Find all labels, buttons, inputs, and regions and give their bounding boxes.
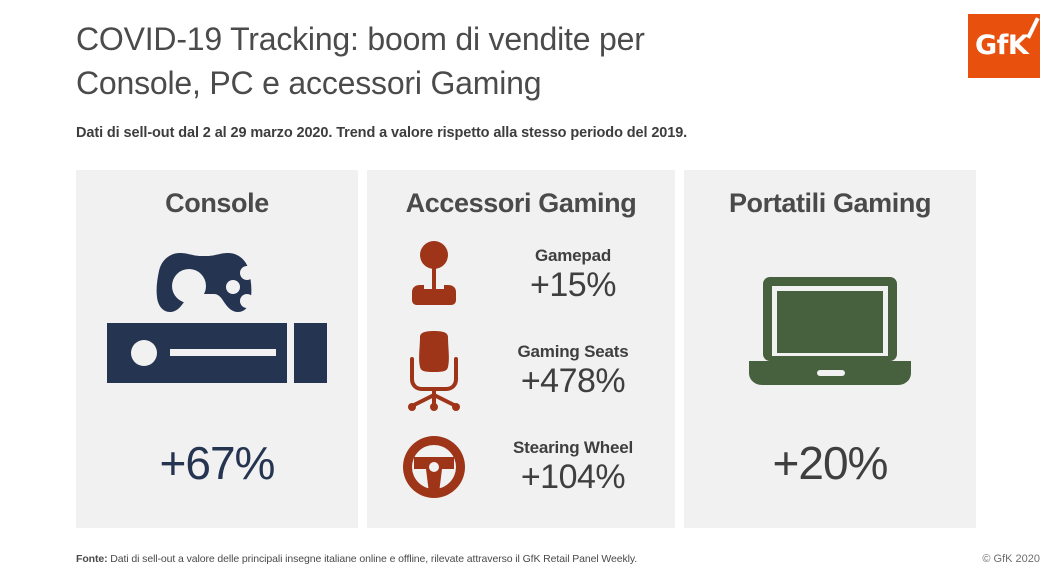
accessori-row-gaming-seats: Gaming Seats +478% <box>367 323 675 419</box>
page-title-line1: COVID-19 Tracking: boom di vendite per <box>76 21 645 57</box>
panel-accessori-title: Accessori Gaming <box>406 188 637 219</box>
panel-accessori-gaming: Accessori Gaming Gamepad +15% <box>367 170 675 528</box>
header: COVID-19 Tracking: boom di vendite per C… <box>76 18 936 141</box>
gfk-logo: GfK <box>968 14 1040 78</box>
gfk-logo-slash-icon <box>1026 17 1039 39</box>
steering-wheel-icon <box>391 433 477 501</box>
gamepad-console-icon-svg <box>102 241 332 391</box>
panels-container: Console +67% <box>76 170 976 528</box>
accessori-label-gamepad: Gamepad <box>535 246 611 266</box>
panel-console: Console +67% <box>76 170 358 528</box>
panel-console-title: Console <box>165 188 269 219</box>
footer-copyright: © GfK 2020 <box>982 553 1040 565</box>
panel-portatili-value: +20% <box>684 436 976 490</box>
accessori-value-gamepad: +15% <box>530 266 616 304</box>
laptop-icon-svg <box>745 271 915 391</box>
page-title-line2: Console, PC e accessori Gaming <box>76 65 541 101</box>
gaming-chair-icon-svg <box>398 331 470 411</box>
panel-portatili-title: Portatili Gaming <box>729 188 931 219</box>
accessori-rows: Gamepad +15% <box>367 227 675 515</box>
gfk-logo-text: GfK <box>975 30 1028 61</box>
joystick-icon <box>391 240 477 310</box>
panel-console-value: +67% <box>76 436 358 490</box>
accessori-text-gaming-seats: Gaming Seats +478% <box>477 342 675 400</box>
accessori-text-stearing-wheel: Stearing Wheel +104% <box>477 438 675 496</box>
accessori-row-stearing-wheel: Stearing Wheel +104% <box>367 419 675 515</box>
gaming-chair-icon <box>391 331 477 411</box>
accessori-value-gaming-seats: +478% <box>521 362 625 400</box>
laptop-icon <box>745 271 915 391</box>
accessori-value-stearing-wheel: +104% <box>521 458 625 496</box>
steering-wheel-icon-svg <box>400 433 468 501</box>
accessori-label-stearing-wheel: Stearing Wheel <box>513 438 633 458</box>
footer-source-text: Dati di sell-out a valore delle principa… <box>107 553 637 565</box>
page-title: COVID-19 Tracking: boom di vendite per C… <box>76 18 936 105</box>
footer-source-label: Fonte: <box>76 553 107 565</box>
accessori-row-gamepad: Gamepad +15% <box>367 227 675 323</box>
footer-source: Fonte: Dati di sell-out a valore delle p… <box>76 553 637 565</box>
page-subtitle: Dati di sell-out dal 2 al 29 marzo 2020.… <box>76 105 936 141</box>
accessori-label-gaming-seats: Gaming Seats <box>518 342 629 362</box>
accessori-text-gamepad: Gamepad +15% <box>477 246 675 304</box>
gamepad-console-icon <box>102 241 332 391</box>
panel-portatili-gaming: Portatili Gaming +20% <box>684 170 976 528</box>
infographic-root: COVID-19 Tracking: boom di vendite per C… <box>0 0 1056 580</box>
joystick-icon-svg <box>402 240 466 310</box>
